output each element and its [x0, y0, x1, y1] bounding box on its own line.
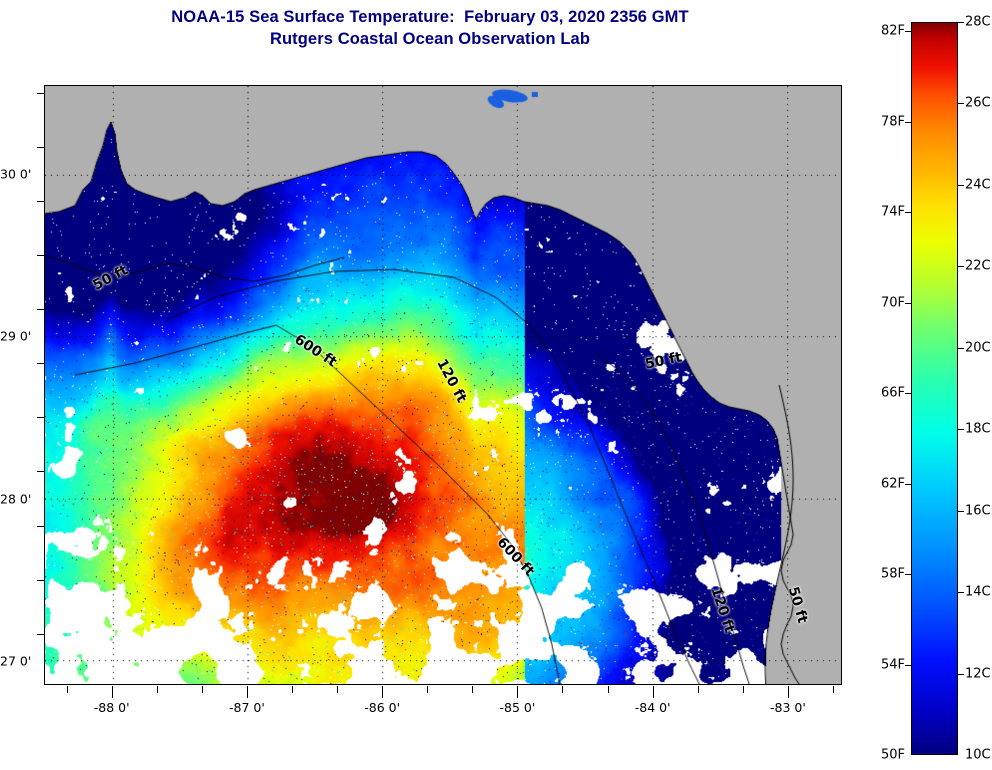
- colorbar-tick-f: [905, 31, 912, 32]
- page-subtitle: Rutgers Coastal Ocean Observation Lab: [0, 28, 860, 50]
- x-tick: [112, 686, 113, 698]
- colorbar-label-celsius: 28C: [965, 15, 991, 30]
- x-tick: [517, 686, 518, 698]
- x-tick: [788, 686, 789, 698]
- x-tick: [292, 686, 293, 693]
- x-tick: [247, 686, 248, 698]
- colorbar-label-fahrenheit: 66F: [863, 386, 905, 401]
- y-tick: [37, 417, 44, 418]
- page-title: NOAA-15 Sea Surface Temperature: Februar…: [0, 6, 860, 28]
- colorbar-label-celsius: 16C: [965, 503, 991, 518]
- colorbar-label-celsius: 26C: [965, 96, 991, 111]
- colorbar-label-fahrenheit: 62F: [863, 476, 905, 491]
- y-tick: [37, 147, 44, 148]
- colorbar-gradient: [911, 22, 958, 755]
- x-tick: [202, 686, 203, 693]
- temperature-colorbar[interactable]: [911, 22, 958, 755]
- colorbar-label-celsius: 14C: [965, 585, 991, 600]
- y-axis-label: 27 0': [0, 653, 30, 668]
- colorbar-label-celsius: 12C: [965, 666, 991, 681]
- x-tick: [653, 686, 654, 698]
- colorbar-tick-c: [957, 592, 964, 593]
- colorbar-label-celsius: 10C: [965, 748, 991, 763]
- colorbar-label-fahrenheit: 50F: [863, 748, 905, 763]
- y-tick: [37, 201, 44, 202]
- x-tick: [472, 686, 473, 693]
- x-axis-label: -87 0': [229, 700, 265, 715]
- colorbar-tick-f: [905, 574, 912, 575]
- colorbar-tick-f: [905, 122, 912, 123]
- y-tick: [37, 634, 44, 635]
- x-axis-label: -88 0': [94, 700, 130, 715]
- colorbar-label-celsius: 22C: [965, 259, 991, 274]
- colorbar-tick-f: [905, 484, 912, 485]
- x-tick: [562, 686, 563, 693]
- y-axis-label: 28 0': [0, 491, 30, 506]
- y-tick: [37, 93, 44, 94]
- x-tick: [608, 686, 609, 693]
- y-axis-label: 29 0': [0, 329, 30, 344]
- colorbar-label-fahrenheit: 74F: [863, 205, 905, 220]
- x-tick: [382, 686, 383, 698]
- colorbar-tick-c: [957, 429, 964, 430]
- y-tick: [37, 255, 44, 256]
- colorbar-tick-c: [957, 103, 964, 104]
- y-tick: [37, 526, 44, 527]
- colorbar-tick-f: [905, 665, 912, 666]
- colorbar-label-fahrenheit: 82F: [863, 24, 905, 39]
- y-tick: [37, 309, 44, 310]
- x-tick: [698, 686, 699, 693]
- colorbar-label-fahrenheit: 78F: [863, 114, 905, 129]
- y-tick: [37, 471, 44, 472]
- x-tick: [427, 686, 428, 693]
- x-axis-label: -84 0': [635, 700, 671, 715]
- y-tick: [37, 580, 44, 581]
- x-axis-label: -85 0': [499, 700, 535, 715]
- colorbar-tick-c: [957, 511, 964, 512]
- colorbar-tick-c: [957, 348, 964, 349]
- colorbar-tick-f: [905, 212, 912, 213]
- colorbar-label-celsius: 18C: [965, 422, 991, 437]
- colorbar-label-celsius: 20C: [965, 340, 991, 355]
- x-tick: [833, 686, 834, 693]
- colorbar-label-fahrenheit: 58F: [863, 567, 905, 582]
- colorbar-tick-c: [957, 266, 964, 267]
- x-axis-label: -86 0': [364, 700, 400, 715]
- colorbar-tick-c: [957, 185, 964, 186]
- x-tick: [67, 686, 68, 693]
- colorbar-tick-c: [957, 22, 964, 23]
- x-tick: [157, 686, 158, 693]
- colorbar-tick-c: [957, 674, 964, 675]
- colorbar-label-celsius: 24C: [965, 177, 991, 192]
- y-axis-label: 30 0': [0, 167, 30, 182]
- x-tick: [743, 686, 744, 693]
- colorbar-tick-f: [905, 303, 912, 304]
- colorbar-tick-f: [905, 393, 912, 394]
- colorbar-label-fahrenheit: 70F: [863, 295, 905, 310]
- x-tick: [337, 686, 338, 693]
- y-tick: [37, 363, 44, 364]
- title-block: NOAA-15 Sea Surface Temperature: Februar…: [0, 6, 860, 50]
- x-axis-label: -83 0': [770, 700, 806, 715]
- colorbar-label-fahrenheit: 54F: [863, 657, 905, 672]
